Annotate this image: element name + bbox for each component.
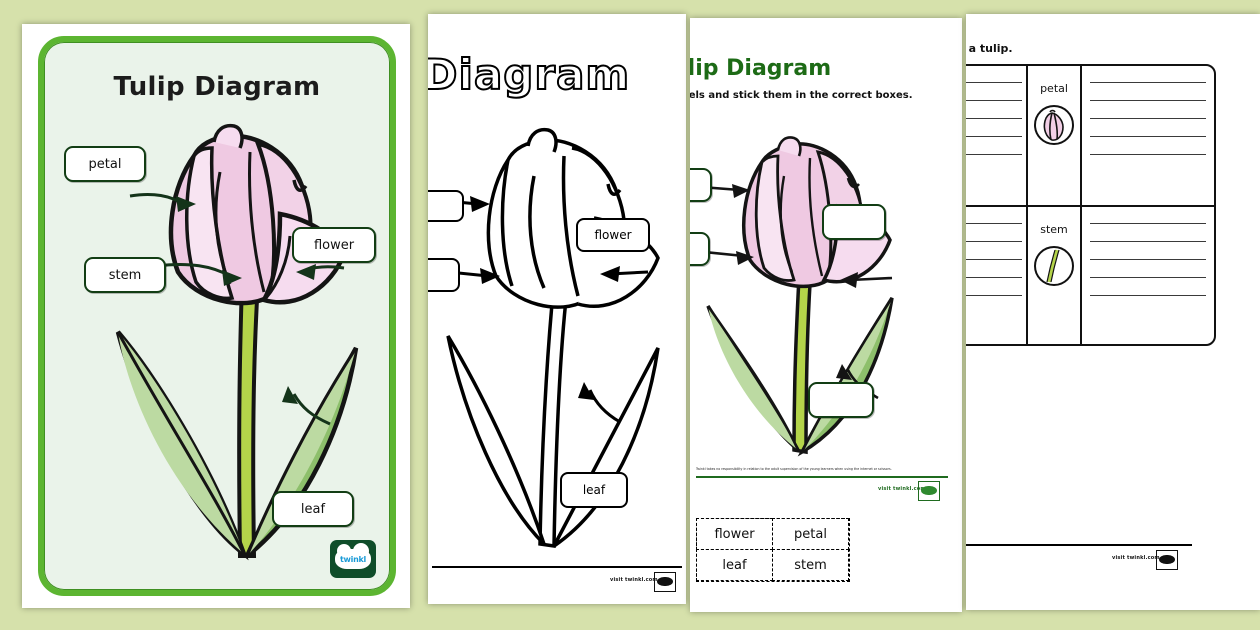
table-cell-petal-illustration: petal <box>1026 66 1082 205</box>
table-label-petal: petal <box>1040 82 1068 95</box>
petal-circle-icon <box>1034 105 1074 145</box>
answer-box-flower[interactable] <box>822 204 886 240</box>
twinkl-wordmark: twinkl <box>340 555 366 564</box>
label-bw-leaf-text: leaf <box>583 483 605 497</box>
label-stem[interactable]: stem <box>84 257 166 293</box>
table-cell-stem-illustration: stem <box>1026 207 1082 346</box>
page-title-activity: ulip Diagram <box>690 56 831 81</box>
writing-lines-left-petal[interactable] <box>966 82 1022 205</box>
answer-box-leaf[interactable] <box>808 382 874 418</box>
footer-rule-bw <box>432 566 682 568</box>
word-bank-grid[interactable]: flower petal leaf stem <box>696 518 850 582</box>
word-bank-cell-stem[interactable]: stem <box>772 549 849 581</box>
label-petal[interactable]: petal <box>64 146 146 182</box>
label-bw-flower[interactable]: flower <box>576 218 650 252</box>
twinkl-logo-small-writing <box>1156 550 1178 570</box>
twinkl-logo-small-bw <box>654 572 676 592</box>
table-label-stem: stem <box>1040 223 1068 236</box>
tulip-illustration-activity <box>690 110 962 482</box>
twinkl-logo-badge: twinkl <box>330 540 376 578</box>
twinkl-logo-small-activity <box>918 481 940 501</box>
word-bank-cell-leaf[interactable]: leaf <box>696 549 773 581</box>
label-petal-text: petal <box>89 157 122 172</box>
instruction-text: he labels and stick them in the correct … <box>690 90 913 101</box>
answer-box-stem[interactable] <box>690 232 710 266</box>
label-flower-text: flower <box>314 238 354 253</box>
label-bw-petal-box[interactable] <box>428 190 464 222</box>
answer-box-petal[interactable] <box>690 168 712 202</box>
label-flower[interactable]: flower <box>292 227 376 263</box>
word-bank-cell-flower[interactable]: flower <box>696 518 773 550</box>
poster-border-frame: Tulip Diagram <box>38 36 396 596</box>
footer-rule-writing <box>966 544 1192 546</box>
footer-rule-activity <box>696 476 948 478</box>
writing-lines-right-stem[interactable] <box>1090 223 1206 346</box>
disclaimer-text: Twinkl takes no responsibility in relati… <box>696 465 948 473</box>
visit-twinkl-text-bw: visit twinkl.com <box>610 577 658 583</box>
label-bw-leaf[interactable]: leaf <box>560 472 628 508</box>
writing-lines-left-stem[interactable] <box>966 223 1022 346</box>
sheet-tulip-writing-frame[interactable]: f a tulip. petal <box>966 14 1260 610</box>
screenshot-canvas: Tulip Diagram <box>0 0 1260 630</box>
visit-twinkl-text-writing: visit twinkl.com <box>1112 555 1160 561</box>
label-stem-text: stem <box>109 268 142 283</box>
sheet-tulip-labelling-activity[interactable]: ulip Diagram he labels and stick them in… <box>690 18 962 612</box>
writing-table: petal <box>966 64 1216 346</box>
page-title-bw: p Diagram <box>428 50 676 99</box>
label-bw-flower-text: flower <box>594 228 631 242</box>
sheet-tulip-diagram-poster[interactable]: Tulip Diagram <box>22 24 410 608</box>
label-leaf-text: leaf <box>301 502 325 517</box>
label-bw-stem-box[interactable] <box>428 258 460 292</box>
stem-circle-icon <box>1034 246 1074 286</box>
writing-lines-right-petal[interactable] <box>1090 82 1206 205</box>
tulip-illustration-outline <box>428 94 686 564</box>
table-row-stem: stem <box>966 205 1214 346</box>
instruction-text-writing: f a tulip. <box>966 42 1013 55</box>
table-row-petal: petal <box>966 66 1214 205</box>
word-bank-cell-petal[interactable]: petal <box>772 518 849 550</box>
sheet-tulip-diagram-bw[interactable]: p Diagram <box>428 14 686 604</box>
label-leaf[interactable]: leaf <box>272 491 354 527</box>
